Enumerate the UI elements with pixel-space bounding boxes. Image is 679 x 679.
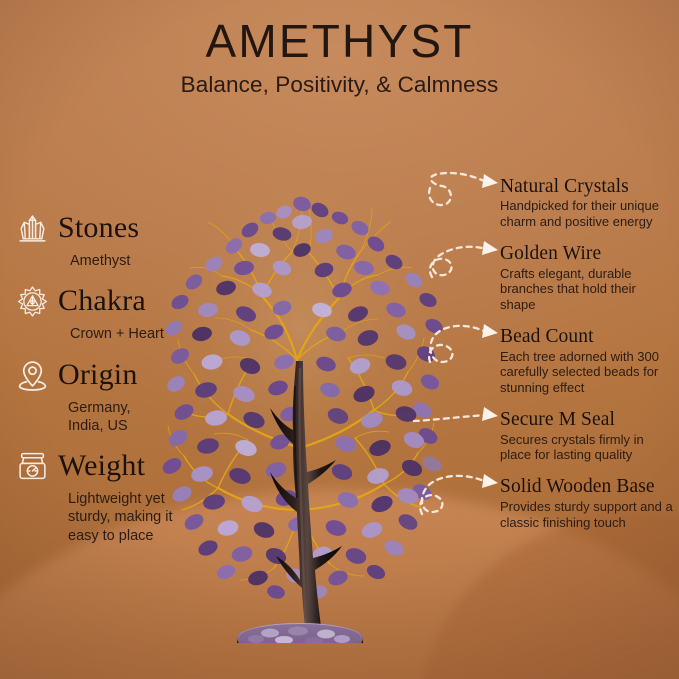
callout-bead-count: Bead Count Each tree adorned with 300 ca… xyxy=(430,326,674,396)
callout-solid-wooden-base: Solid Wooden Base Provides sturdy suppor… xyxy=(430,476,674,530)
callout-desc: Secures crystals firmly in place for las… xyxy=(500,432,674,464)
dashed-straight-arrow-icon xyxy=(428,399,504,453)
callout-title: Golden Wire xyxy=(500,243,674,264)
spec-head: Chakra xyxy=(16,281,204,321)
callout-title: Secure M Seal xyxy=(500,409,674,430)
spec-head: Origin xyxy=(16,355,204,395)
spec-head: Weight xyxy=(16,446,204,486)
callout-list: Natural Crystals Handpicked for their un… xyxy=(430,176,674,544)
spec-title: Weight xyxy=(58,451,145,481)
spec-list: Stones Amethyst Chakra Crown + Heart xyxy=(16,208,204,556)
chakra-mandala-icon xyxy=(16,285,49,318)
spec-title: Origin xyxy=(58,360,138,390)
header: AMETHYST Balance, Positivity, & Calmness xyxy=(0,18,679,98)
spec-value: Crown + Heart xyxy=(70,325,202,343)
spec-title: Stones xyxy=(58,213,139,243)
product-infographic: AMETHYST Balance, Positivity, & Calmness… xyxy=(0,0,679,679)
callout-desc: Each tree adorned with 300 carefully sel… xyxy=(500,349,674,397)
spec-item-stones: Stones Amethyst xyxy=(16,208,204,270)
dashed-loop-arrow-icon xyxy=(428,466,504,520)
callout-desc: Handpicked for their unique charm and po… xyxy=(500,198,674,230)
page-title: AMETHYST xyxy=(0,18,679,66)
callout-title: Natural Crystals xyxy=(500,176,674,197)
callout-title: Bead Count xyxy=(500,326,674,347)
spec-value: Amethyst xyxy=(70,252,202,270)
callout-golden-wire: Golden Wire Crafts elegant, durable bran… xyxy=(430,243,674,313)
callout-desc: Provides sturdy support and a classic fi… xyxy=(500,499,674,531)
callout-secure-m-seal: Secure M Seal Secures crystals firmly in… xyxy=(430,409,674,463)
spec-item-origin: Origin Germany, India, US xyxy=(16,355,204,436)
dashed-loop-arrow-icon xyxy=(428,233,504,287)
callout-natural-crystals: Natural Crystals Handpicked for their un… xyxy=(430,176,674,230)
callout-title: Solid Wooden Base xyxy=(500,476,674,497)
location-pin-icon xyxy=(16,358,49,391)
wooden-base xyxy=(237,623,363,643)
spec-head: Stones xyxy=(16,208,204,248)
spec-item-chakra: Chakra Crown + Heart xyxy=(16,281,204,343)
page-subtitle: Balance, Positivity, & Calmness xyxy=(0,72,679,98)
callout-desc: Crafts elegant, durable branches that ho… xyxy=(500,266,674,314)
weighing-scale-icon xyxy=(16,450,49,483)
spec-value: Lightweight yet sturdy, making it easy t… xyxy=(68,490,200,545)
dashed-loop-arrow-icon xyxy=(428,316,504,370)
crystal-cluster-icon xyxy=(16,212,49,245)
spec-value: Germany, India, US xyxy=(68,399,200,436)
spec-title: Chakra xyxy=(58,286,146,316)
spec-item-weight: Weight Lightweight yet sturdy, making it… xyxy=(16,446,204,545)
